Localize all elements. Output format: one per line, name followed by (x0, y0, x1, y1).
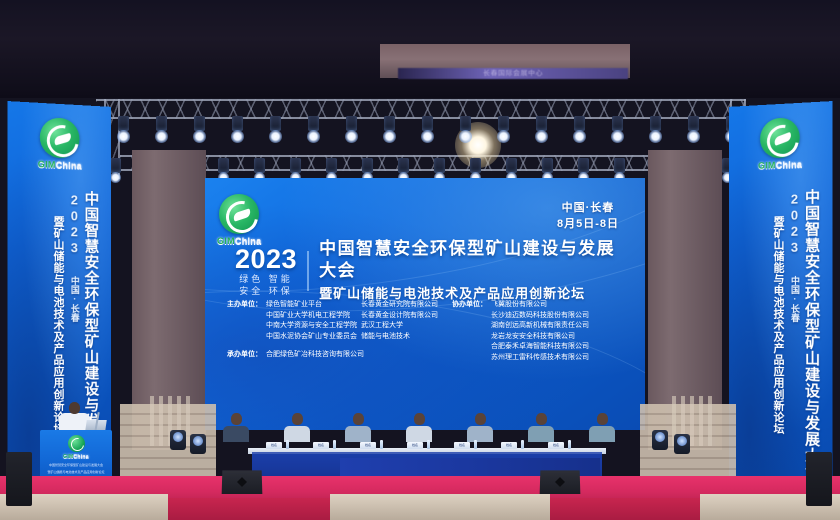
cohost-organizers: 协办单位： 飞翼股份有限公司长沙迪迈数码科技股份有限公司湖南创远高新机械有限责任… (452, 300, 589, 363)
host-organizer-item: 中国水泥协会矿山专业委员会 (266, 332, 357, 343)
stage-light-beam (611, 130, 624, 143)
stage-light-beam (110, 172, 121, 183)
stage-light-fixture (156, 116, 167, 131)
participant-head (475, 413, 486, 425)
gim-china-logo-icon (40, 117, 80, 159)
participant-nameplate: 姓名 (548, 442, 564, 449)
stage-light-fixture (434, 158, 445, 173)
banner-right-logo: GIMChina (758, 117, 802, 171)
stage-monitor-left (222, 470, 263, 494)
banner-right-logo-gim: GIM (758, 160, 776, 171)
water-bottle (427, 440, 430, 449)
participant-nameplate: 姓名 (266, 442, 282, 449)
screen-logo-gim: GIM (217, 236, 235, 246)
nameplate-text: 姓名 (548, 442, 564, 449)
nameplate-text: 姓名 (407, 442, 423, 449)
participant-head (414, 413, 425, 425)
banner-left-logo-china: China (56, 160, 82, 171)
podium-line1: 中国智慧安全环保型矿山建设与发展大会 (40, 463, 112, 467)
gim-china-logo-icon (68, 435, 85, 452)
participant-head (597, 413, 608, 425)
stage-monitor-right (540, 470, 581, 494)
water-bottle (474, 440, 477, 449)
moving-head-light-left (170, 430, 186, 450)
stage-light-beam (231, 130, 244, 143)
stage-light-beam (345, 130, 358, 143)
participant-nameplate: 姓名 (407, 442, 423, 449)
cohost-organizer-list: 飞翼股份有限公司长沙迪迈数码科技股份有限公司湖南创远高新机械有限责任公司龙岩龙安… (491, 300, 589, 363)
stage-light-fixture (650, 116, 661, 131)
host-organizer-item: 中国矿业大学机电工程学院 (266, 311, 357, 322)
nameplate-text: 姓名 (501, 442, 517, 449)
stage-light-fixture (688, 116, 699, 131)
stage-light-beam (307, 130, 320, 143)
participant-nameplate: 姓名 (360, 442, 376, 449)
stage-light-beam (117, 130, 130, 143)
cohost-organizer-item: 合肥泰禾卓海智能科技有限公司 (491, 342, 589, 353)
screen-location: 中国·长春 (557, 200, 619, 216)
screen-slogan-line1: 绿色 智能 (235, 273, 297, 285)
lighting-truss-lower (120, 155, 720, 171)
banner-left-city: 中国·长春 (69, 276, 80, 322)
stage-light-beam (193, 130, 206, 143)
stage-light-fixture (118, 116, 129, 131)
banner-left-logo-gim: GIM (38, 159, 56, 170)
screen-date-location: 中国·长春 8月5日-8日 (557, 200, 619, 232)
host-organizer-item: 绿色智能矿业平台 (266, 300, 357, 311)
speaker-head (69, 402, 80, 414)
water-bottle (568, 440, 571, 449)
stage-light-fixture (308, 116, 319, 131)
nameplate-text: 姓名 (266, 442, 282, 449)
front-ledge-center (330, 494, 550, 520)
stage-light-beam (155, 130, 168, 143)
water-bottle (521, 440, 524, 449)
host-organizer-list-b: 长春黄金研究院有限公司长春黄金设计院有限公司武汉工程大学储能与电池技术 (361, 300, 438, 363)
panel-participant (528, 413, 554, 442)
podium-line2: 暨矿山储能与电池技术及产品应用创新论坛 (40, 470, 112, 474)
screen-dates: 8月5日-8日 (557, 216, 619, 232)
title-divider (307, 251, 309, 291)
moving-head-light-right (652, 430, 668, 450)
stage-light-beam (687, 130, 700, 143)
banner-left-logo: GIMChina (38, 117, 82, 171)
stage-light-fixture (254, 158, 265, 173)
nameplate-text: 姓名 (313, 442, 329, 449)
undertaker-name: 合肥绿色矿冶科技咨询有限公司 (266, 350, 364, 361)
screen-titles: 中国智慧安全环保型矿山建设与发展大会 暨矿山储能与电池技术及产品应用创新论坛 (319, 238, 629, 303)
nameplate-text: 姓名 (360, 442, 376, 449)
panel-participant (284, 413, 310, 442)
gim-china-logo-icon (219, 194, 259, 234)
cohost-label: 协办单位： (452, 300, 487, 363)
stage-light-fixture (422, 116, 433, 131)
cohost-organizer-item: 飞翼股份有限公司 (491, 300, 589, 311)
participant-torso (528, 426, 554, 442)
banner-right-title-main: 中国智慧安全环保型矿山建设与发展大会 (803, 189, 820, 480)
stage-light-beam (459, 130, 472, 143)
stage-light-fixture (398, 158, 409, 173)
participant-torso (345, 426, 371, 442)
host-organizer-item: 长春黄金研究院有限公司 (361, 300, 438, 311)
participant-head (536, 413, 547, 425)
water-bottle (333, 440, 336, 449)
stage-light-fixture (194, 116, 205, 131)
participant-torso (467, 426, 493, 442)
cohost-organizer-item: 湖南创远高新机械有限责任公司 (491, 321, 589, 332)
stage-light-fixture (346, 116, 357, 131)
stage-light-beam (497, 130, 510, 143)
cohost-organizer-item: 龙岩龙安安全科技有限公司 (491, 332, 589, 343)
stage-light-fixture (578, 158, 589, 173)
pa-speaker-right (806, 452, 832, 506)
stage-light-fixture (232, 116, 243, 131)
podium-logo-china: China (73, 454, 88, 460)
stage-light-fixture (218, 158, 229, 173)
host-organizer-item: 储能与电池技术 (361, 332, 438, 343)
stage-light-fixture (270, 116, 281, 131)
cohost-organizer-item: 苏州理工雷科传感技术有限公司 (491, 353, 589, 364)
vertical-banner-right: GIMChina 中国智慧安全环保型矿山建设与发展大会 暨矿山储能与电池技术及产… (729, 101, 832, 491)
participant-head (353, 413, 364, 425)
host-organizer-item: 武汉工程大学 (361, 321, 438, 332)
screen-title-row: 2023 绿色 智能 安全 环保 中国智慧安全环保型矿山建设与发展大会 暨矿山储… (235, 238, 629, 303)
stage-light-fixture (362, 158, 373, 173)
screen-slogan-line2: 安全 环保 (235, 285, 297, 297)
banner-left-year: 2023 (67, 192, 82, 256)
stage-light-beam (383, 130, 396, 143)
venue-sign-text: 长春国际会展中心 (398, 69, 628, 79)
banner-left-title-sub: 暨矿山储能与电池技术及产品应用创新论坛 (51, 216, 64, 435)
podium-logo-gim: GIM (63, 454, 73, 460)
stage-light-beam (535, 130, 548, 143)
participant-head (231, 413, 242, 425)
water-bottle (380, 440, 383, 449)
participant-nameplate: 姓名 (501, 442, 517, 449)
participant-torso (589, 426, 615, 442)
conference-stage-photo: 长春国际会展中心 GIMChina 中国智慧安全环保型矿山建设与发展大会 暨矿山… (0, 0, 840, 520)
banner-right-year: 2023 (787, 191, 802, 256)
moving-head-light-right-2 (674, 434, 690, 454)
stage-light-beam (573, 130, 586, 143)
main-led-screen: GIMChina 中国·长春 8月5日-8日 2023 绿色 智能 安全 环保 … (205, 178, 645, 430)
panel-participant (589, 413, 615, 442)
cohost-organizer-item: 长沙迪迈数码科技股份有限公司 (491, 311, 589, 322)
stage-light-fixture (506, 158, 517, 173)
screen-title-main: 中国智慧安全环保型矿山建设与发展大会 (319, 238, 629, 282)
stage-light-fixture (460, 116, 471, 131)
screen-year-block: 2023 绿色 智能 安全 环保 (235, 245, 297, 297)
banner-right-logo-china: China (776, 159, 802, 170)
moving-head-light-left-2 (190, 434, 206, 454)
host-organizer-item: 中南大学资源与安全工程学院 (266, 321, 357, 332)
stage-light-beam (269, 130, 282, 143)
stage-light-fixture (614, 158, 625, 173)
stage-light-fixture (574, 116, 585, 131)
participant-nameplate: 姓名 (313, 442, 329, 449)
undertaker-label: 承办单位： (227, 350, 262, 361)
stage-light-fixture (290, 158, 301, 173)
participant-torso (223, 426, 249, 442)
stage-light-beam (421, 130, 434, 143)
stage-light-fixture (110, 158, 121, 173)
host-organizer-item: 长春黄金设计院有限公司 (361, 311, 438, 322)
panel-participant (467, 413, 493, 442)
banner-right-title-sub: 暨矿山储能与电池技术及产品应用创新论坛 (771, 216, 784, 435)
nameplate-text: 姓名 (454, 442, 470, 449)
water-bottle (286, 440, 289, 449)
pa-speaker-left (6, 452, 32, 506)
stage-light-fixture (326, 158, 337, 173)
venue-sign: 长春国际会展中心 (398, 68, 628, 79)
stage-light-fixture (536, 116, 547, 131)
gim-china-logo-icon (760, 117, 800, 159)
participant-nameplate: 姓名 (454, 442, 470, 449)
panel-participant (406, 413, 432, 442)
undertaker-block: 承办单位： 合肥绿色矿冶科技咨询有限公司 (227, 350, 364, 361)
stage-light-fixture (498, 116, 509, 131)
stage-light-fixture (470, 158, 481, 173)
stage-light-fixture (612, 116, 623, 131)
stage-light-fixture (384, 116, 395, 131)
stage-light-fixture (542, 158, 553, 173)
panel-participant (345, 413, 371, 442)
stage-light-beam (649, 130, 662, 143)
panel-participant (223, 413, 249, 442)
banner-right-city: 中国·长春 (789, 276, 800, 322)
screen-year: 2023 (235, 245, 297, 273)
participant-head (292, 413, 303, 425)
